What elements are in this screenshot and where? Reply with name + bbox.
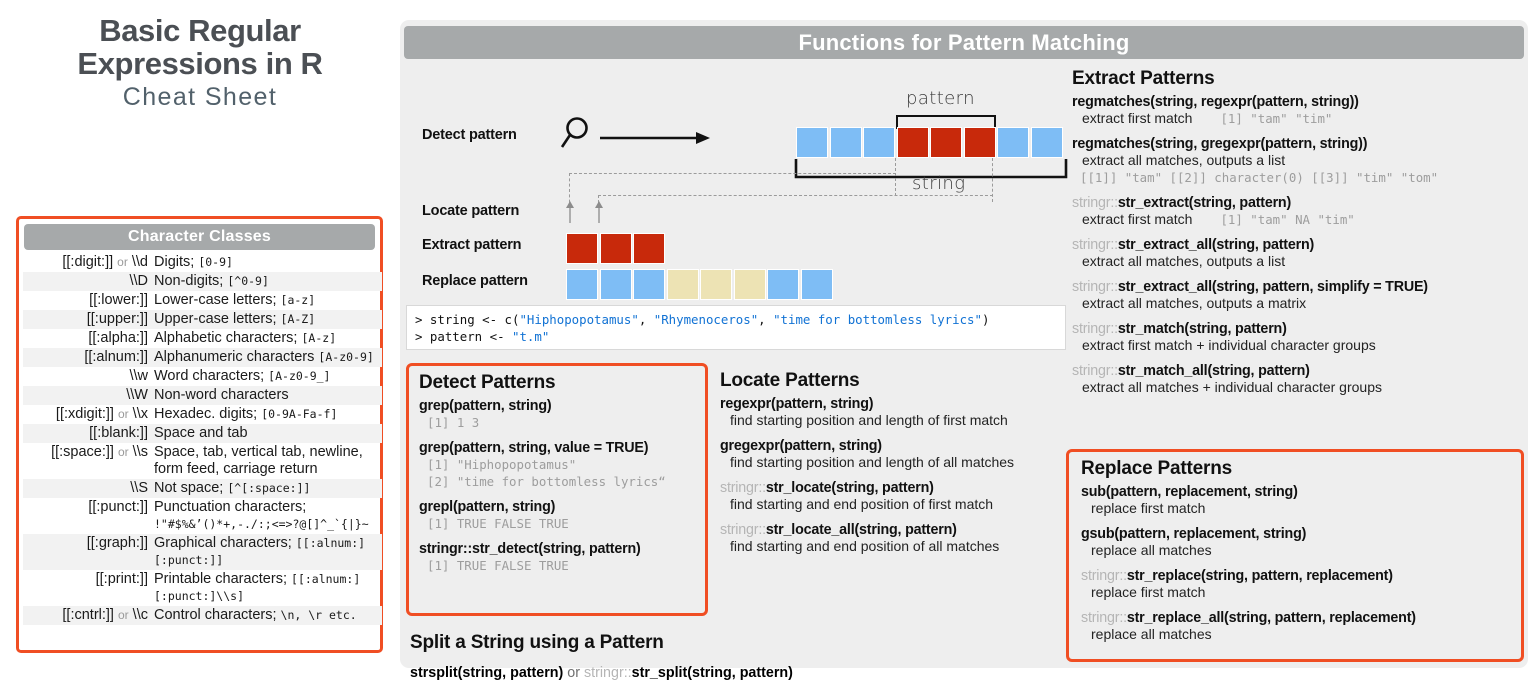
diagram-label-locate: Locate pattern [422, 203, 519, 219]
split-title: Split a String using a Pattern [410, 632, 1070, 654]
cc-key: \\S [23, 479, 151, 498]
extract-cell [633, 233, 665, 264]
cc-value: Upper-case letters; [A-Z] [151, 310, 382, 329]
string-cell [964, 127, 996, 158]
locate-function: gregexpr(pattern, string) [720, 438, 1070, 454]
cc-value: Word characters; [A-z0-9_] [151, 367, 382, 386]
cc-key: [[:cntrl:]] or \\c [23, 606, 151, 625]
annotation-string: string [912, 173, 965, 194]
extract-description: extract all matches, outputs a list [1082, 152, 1524, 169]
detect-patterns-panel: Detect Patterns grep(pattern, string)[1]… [406, 363, 708, 616]
cc-key: \\w [23, 367, 151, 386]
string-cell [997, 127, 1029, 158]
replace-cell [801, 269, 833, 300]
replace-description: replace all matches [1091, 542, 1509, 559]
table-row: [[:alnum:]]Alphanumeric characters [A-z0… [23, 348, 382, 367]
table-row: [[:upper:]]Upper-case letters; [A-Z] [23, 310, 382, 329]
detect-function: stringr::str_detect(string, pattern) [419, 541, 695, 557]
table-row: \\DNon-digits; [^0-9] [23, 272, 382, 291]
detect-function: grep(pattern, string) [419, 398, 695, 414]
replace-cell [734, 269, 766, 300]
cc-value: Hexadec. digits; [0-9A-Fa-f] [151, 405, 382, 424]
diagram-label-extract: Extract pattern [422, 237, 521, 253]
extract-function: stringr::str_extract_all(string, pattern… [1072, 237, 1524, 253]
console-string-3: "time for bottomless lyrics" [773, 312, 982, 327]
main-panel: Functions for Pattern Matching Detect pa… [400, 20, 1528, 668]
detect-function: grepl(pattern, string) [419, 499, 695, 515]
replace-items-list: sub(pattern, replacement, string)replace… [1081, 484, 1509, 643]
detect-patterns-title: Detect Patterns [419, 372, 695, 394]
locate-description: find starting position and length of all… [730, 454, 1070, 471]
pattern-matching-diagram: Detect pattern Locate pattern Extract pa… [400, 65, 1080, 300]
extract-function: regmatches(string, gregexpr(pattern, str… [1072, 136, 1524, 152]
cc-key: [[:punct:]] [23, 498, 151, 534]
string-cell [830, 127, 862, 158]
replace-cell [633, 269, 665, 300]
split-pkg: stringr:: [584, 665, 632, 681]
cc-value: Printable characters; [[:alnum:][:punct:… [151, 570, 382, 606]
cc-key: \\W [23, 386, 151, 405]
locate-arrow-1-icon [563, 201, 577, 223]
table-row: [[:digit:]] or \\dDigits; [0-9] [23, 253, 382, 272]
locate-patterns-panel: Locate Patterns regexpr(pattern, string)… [720, 370, 1070, 555]
replace-cell [767, 269, 799, 300]
detect-function: grep(pattern, string, value = TRUE) [419, 440, 695, 456]
annotation-pattern: pattern [906, 88, 975, 109]
table-row: [[:space:]] or \\sSpace, tab, vertical t… [23, 443, 382, 479]
replace-cell [600, 269, 632, 300]
cc-value: Graphical characters; [[:alnum:][:punct:… [151, 534, 382, 570]
cc-key: [[:alnum:]] [23, 348, 151, 367]
character-classes-panel: Character Classes [[:digit:]] or \\dDigi… [16, 216, 383, 653]
table-row: [[:xdigit:]] or \\xHexadec. digits; [0-9… [23, 405, 382, 424]
diagram-label-detect: Detect pattern [422, 127, 517, 143]
table-row: \\SNot space; [^[:space:]] [23, 479, 382, 498]
extract-output: [[1]] "tam" [[2]] character(0) [[3]] "ti… [1080, 169, 1524, 186]
flow-arrow-icon [600, 131, 710, 145]
console-code-a: string <- c( [422, 312, 519, 327]
cc-value: Space, tab, vertical tab, newline, form … [151, 443, 382, 479]
replace-cell-row [566, 269, 834, 300]
cc-value: Lower-case letters; [a-z] [151, 291, 382, 310]
replace-description: replace all matches [1091, 626, 1509, 643]
extract-function: stringr::str_extract(string, pattern) [1072, 195, 1524, 211]
console-sep-1: , [639, 312, 654, 327]
locate-description: find starting position and length of fir… [730, 412, 1070, 429]
extract-function: stringr::str_match_all(string, pattern) [1072, 363, 1524, 379]
console-code-d: ) [982, 312, 989, 327]
extract-cell-row [566, 233, 667, 264]
replace-description: replace first match [1091, 500, 1509, 517]
guide-line-1 [895, 158, 896, 196]
split-function-line: strsplit(string, pattern) or stringr::st… [410, 665, 1070, 681]
detect-output: [1] TRUE FALSE TRUE [427, 557, 695, 574]
replace-description: replace first match [1091, 584, 1509, 601]
table-row: [[:blank:]]Space and tab [23, 424, 382, 443]
extract-function: regmatches(string, regexpr(pattern, stri… [1072, 94, 1524, 110]
replace-function: stringr::str_replace_all(string, pattern… [1081, 610, 1509, 626]
extract-function: stringr::str_match(string, pattern) [1072, 321, 1524, 337]
locate-function: regexpr(pattern, string) [720, 396, 1070, 412]
replace-function: gsub(pattern, replacement, string) [1081, 526, 1509, 542]
table-row: \\WNon-word characters [23, 386, 382, 405]
page-title: Basic Regular Expressions in R Cheat She… [0, 14, 400, 112]
locate-items-list: regexpr(pattern, string)find starting po… [720, 396, 1070, 555]
diagram-label-replace: Replace pattern [422, 273, 528, 289]
locate-description: find starting and end position of all ma… [730, 538, 1070, 555]
title-line-1: Basic Regular Expressions in R [0, 14, 400, 80]
table-row: [[:punct:]]Punctuation characters; !"#$%… [23, 498, 382, 534]
table-row: [[:cntrl:]] or \\cControl characters; \n… [23, 606, 382, 625]
cc-value: Alphanumeric characters [A-z0-9] [151, 348, 382, 367]
console-sep-2: , [758, 312, 773, 327]
character-classes-table: [[:digit:]] or \\dDigits; [0-9]\\DNon-di… [23, 253, 382, 625]
replace-cell [566, 269, 598, 300]
code-console: > string <- c("Hiphopopotamus", "Rhymeno… [406, 305, 1066, 350]
extract-description: extract all matches, outputs a list [1082, 253, 1524, 270]
extract-cell [600, 233, 632, 264]
magnifier-icon [558, 115, 592, 151]
string-cell [897, 127, 929, 158]
left-panel: Basic Regular Expressions in R Cheat She… [0, 0, 400, 676]
title-text-2: Expressions in R [77, 46, 322, 81]
replace-patterns-title: Replace Patterns [1081, 458, 1509, 480]
cc-value: Non-digits; [^0-9] [151, 272, 382, 291]
extract-patterns-panel: Extract Patterns regmatches(string, rege… [1072, 68, 1524, 396]
detect-items-list: grep(pattern, string)[1] 1 3grep(pattern… [419, 398, 695, 574]
cc-key: [[:alpha:]] [23, 329, 151, 348]
extract-items-list: regmatches(string, regexpr(pattern, stri… [1072, 94, 1524, 396]
console-string-1: "Hiphopopotamus" [519, 312, 638, 327]
banner-title: Functions for Pattern Matching [404, 26, 1524, 59]
cc-value: Not space; [^[:space:]] [151, 479, 382, 498]
replace-cell [700, 269, 732, 300]
cc-key: [[:upper:]] [23, 310, 151, 329]
console-string-2: "Rhymenoceros" [654, 312, 758, 327]
extract-function: stringr::str_extract_all(string, pattern… [1072, 279, 1524, 295]
extract-description: extract first match[1] "tam" "tim" [1082, 110, 1524, 127]
replace-cell [667, 269, 699, 300]
string-cell [863, 127, 895, 158]
locate-description: find starting and end position of first … [730, 496, 1070, 513]
cc-key: [[:lower:]] [23, 291, 151, 310]
locate-patterns-title: Locate Patterns [720, 370, 1070, 392]
cc-value: Space and tab [151, 424, 382, 443]
table-row: \\wWord characters; [A-z0-9_] [23, 367, 382, 386]
title-text-1: Basic Regular [99, 13, 301, 48]
cc-key: [[:space:]] or \\s [23, 443, 151, 479]
detect-output: [1] "Hiphopopotamus" [427, 456, 695, 473]
split-fn-strsplit: strsplit(string, pattern) [410, 665, 563, 681]
table-row: [[:lower:]]Lower-case letters; [a-z] [23, 291, 382, 310]
cc-value: Non-word characters [151, 386, 382, 405]
detect-output: [1] TRUE FALSE TRUE [427, 515, 695, 532]
string-cell [796, 127, 828, 158]
console-line-2: > pattern <- "t.m" [415, 328, 1057, 345]
guide-line-2 [569, 173, 896, 174]
replace-function: sub(pattern, replacement, string) [1081, 484, 1509, 500]
console-line-1: > string <- c("Hiphopopotamus", "Rhymeno… [415, 311, 1057, 328]
split-string-panel: Split a String using a Pattern strsplit(… [410, 632, 1070, 681]
split-fn-strsplit-stringr: str_split(string, pattern) [632, 665, 793, 681]
guide-line-5 [598, 195, 993, 196]
split-or: or [563, 665, 584, 681]
table-row: [[:alpha:]]Alphabetic characters; [A-z] [23, 329, 382, 348]
cc-key: [[:print:]] [23, 570, 151, 606]
locate-arrow-2-icon [592, 201, 606, 223]
cc-key: [[:digit:]] or \\d [23, 253, 151, 272]
detect-output: [2] "time for bottomless lyrics“ [427, 473, 695, 490]
extract-cell [566, 233, 598, 264]
subtitle: Cheat Sheet [0, 82, 400, 112]
detect-output: [1] 1 3 [427, 414, 695, 431]
console-string-4: "t.m" [512, 329, 549, 344]
extract-description: extract all matches + individual charact… [1082, 379, 1524, 396]
cc-value: Punctuation characters; !"#$%&’()*+,-./:… [151, 498, 382, 534]
cc-key: [[:blank:]] [23, 424, 151, 443]
cc-value: Digits; [0-9] [151, 253, 382, 272]
locate-function: stringr::str_locate_all(string, pattern) [720, 522, 1070, 538]
extract-description: extract all matches, outputs a matrix [1082, 295, 1524, 312]
locate-function: stringr::str_locate(string, pattern) [720, 480, 1070, 496]
extract-description: extract first match[1] "tam" NA "tim" [1082, 211, 1524, 228]
string-cell [1031, 127, 1063, 158]
cc-key: [[:xdigit:]] or \\x [23, 405, 151, 424]
table-row: [[:graph:]]Graphical characters; [[:alnu… [23, 534, 382, 570]
extract-description: extract first match + individual charact… [1082, 337, 1524, 354]
cc-key: [[:graph:]] [23, 534, 151, 570]
cc-key: \\D [23, 272, 151, 291]
table-row: [[:print:]]Printable characters; [[:alnu… [23, 570, 382, 606]
character-classes-header: Character Classes [24, 224, 375, 250]
cc-value: Control characters; \n, \r etc. [151, 606, 382, 625]
cc-value: Alphabetic characters; [A-z] [151, 329, 382, 348]
replace-patterns-panel: Replace Patterns sub(pattern, replacemen… [1066, 449, 1524, 662]
replace-function: stringr::str_replace(string, pattern, re… [1081, 568, 1509, 584]
string-cell-row [796, 127, 1064, 158]
console-code-b: pattern <- [422, 329, 512, 344]
extract-patterns-title: Extract Patterns [1072, 68, 1524, 90]
string-cell [930, 127, 962, 158]
